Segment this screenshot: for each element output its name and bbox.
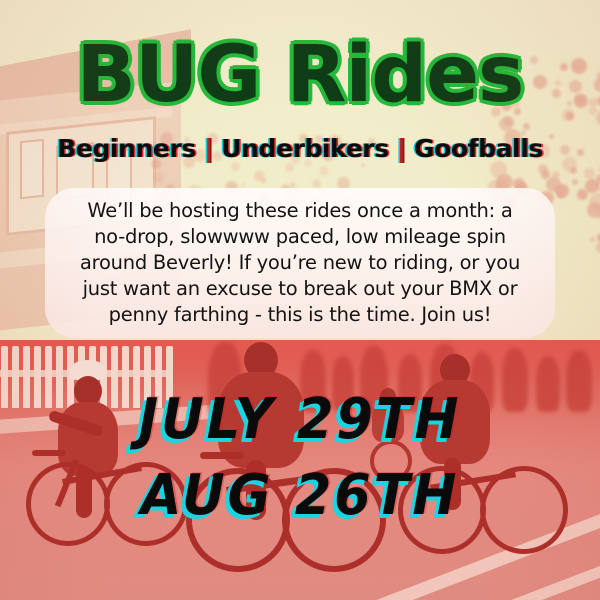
foliage-blob xyxy=(572,179,578,185)
date-august: AUG 26TH xyxy=(18,458,582,534)
foliage-blob xyxy=(596,242,600,253)
subtitle-separator: | xyxy=(196,134,221,163)
foliage-blob xyxy=(285,163,294,172)
foliage-blob xyxy=(319,166,329,176)
foliage-blob xyxy=(587,202,600,218)
foliage-blob xyxy=(231,162,240,171)
subtitle: Beginners | Underbikers | Goofballs xyxy=(0,134,600,163)
title-block: BUG Rides xyxy=(0,36,600,116)
description-card: We’ll be hosting these rides once a mont… xyxy=(45,188,555,338)
date-july: JULY 29TH xyxy=(18,382,582,458)
subtitle-part-beginners: Beginners xyxy=(57,134,196,163)
foliage-blob xyxy=(241,183,245,187)
foliage-blob xyxy=(584,168,595,179)
page-title: BUG Rides xyxy=(77,36,524,116)
foliage-blob xyxy=(312,179,321,188)
foliage-blob xyxy=(153,172,164,183)
foliage-blob xyxy=(361,163,365,167)
foliage-blob xyxy=(523,123,530,130)
foliage-blob xyxy=(596,174,600,183)
foliage-blob xyxy=(538,164,548,174)
foliage-blob xyxy=(552,171,560,179)
foliage-blob xyxy=(546,177,561,192)
foliage-blob xyxy=(590,237,595,242)
poster-canvas: BUG Rides Beginners | Underbikers | Goof… xyxy=(0,0,600,600)
dates-block: JULY 29TH AUG 26TH xyxy=(0,382,600,534)
subtitle-part-underbikers: Underbikers xyxy=(221,134,388,163)
description-text: We’ll be hosting these rides once a mont… xyxy=(71,198,529,328)
subtitle-separator: | xyxy=(389,134,414,163)
subtitle-part-goofballs: Goofballs xyxy=(414,134,543,163)
foliage-blob xyxy=(261,178,266,183)
